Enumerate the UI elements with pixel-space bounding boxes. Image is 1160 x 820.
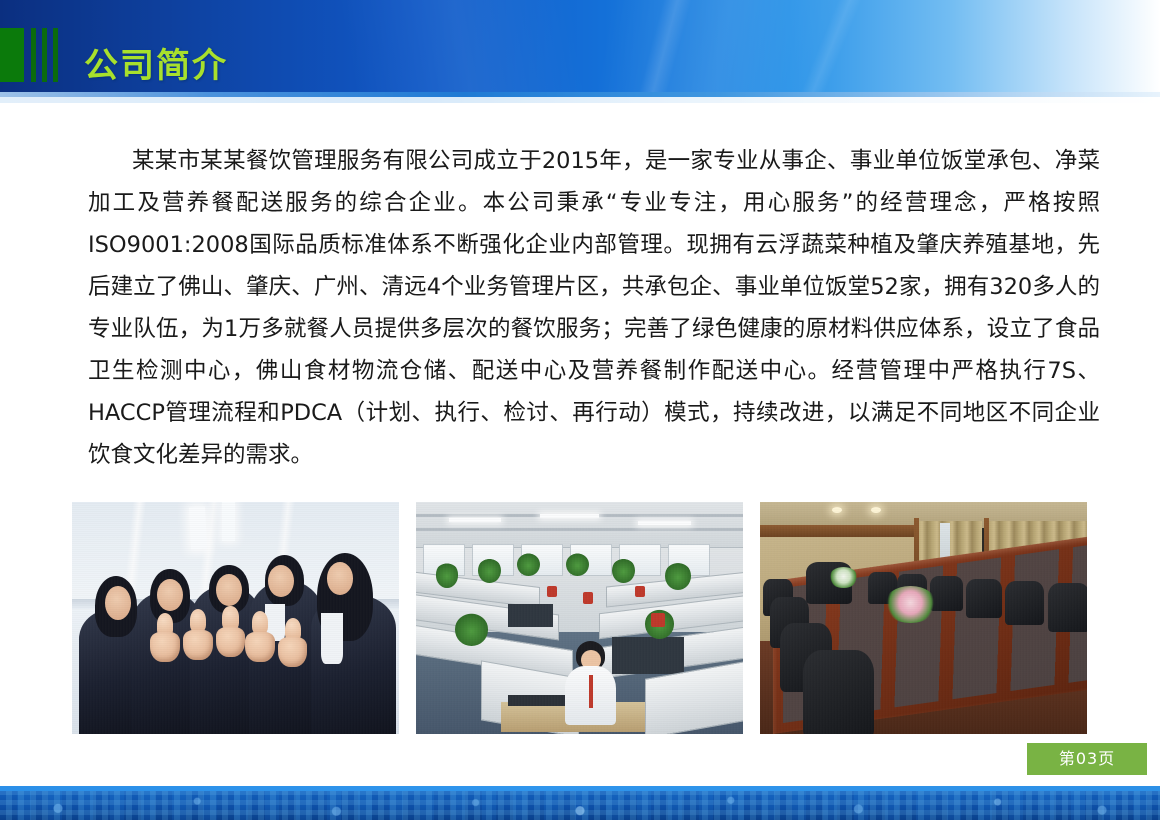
photo1-hand-5 bbox=[278, 637, 307, 667]
photo3-downlight-1 bbox=[832, 507, 842, 513]
photo2-cubicle-shadow-2 bbox=[612, 637, 684, 674]
photo3-chair-near-4 bbox=[803, 650, 875, 734]
photo2-plant-6 bbox=[665, 562, 691, 590]
photo1-face-1 bbox=[105, 586, 131, 621]
photo1-hand-3 bbox=[216, 627, 245, 657]
decor-bar-2 bbox=[42, 28, 47, 82]
photo2-plant-5 bbox=[612, 558, 635, 584]
title-decoration-bars-icon bbox=[0, 28, 58, 82]
photo1-face-5 bbox=[327, 562, 353, 594]
photo2-lamp-2 bbox=[540, 514, 599, 518]
footer-band bbox=[0, 791, 1160, 820]
photo-gallery bbox=[72, 502, 1088, 734]
photo1-shirt-5 bbox=[321, 613, 344, 664]
photo1-hand-1 bbox=[150, 632, 179, 662]
photo2-red-pot-3 bbox=[651, 613, 664, 627]
photo2-seated-employee bbox=[563, 641, 619, 725]
photo3-chair-far-5 bbox=[1005, 581, 1044, 625]
photo1-thumb-3 bbox=[222, 606, 238, 629]
photo3-chair-far-6 bbox=[1048, 583, 1087, 632]
slide-canvas: 公司简介 某某市某某餐饮管理服务有限公司成立于2015年，是一家专业从事企、事业… bbox=[0, 0, 1160, 820]
photo2-red-pot-1 bbox=[547, 586, 557, 598]
photo1-hand-4 bbox=[245, 632, 274, 662]
photo1-hand-2 bbox=[183, 630, 212, 660]
decor-bar-3 bbox=[53, 28, 58, 82]
photo-open-plan-office bbox=[416, 502, 743, 734]
photo2-plant-7 bbox=[455, 613, 488, 645]
photo2-plant-2 bbox=[478, 558, 501, 584]
photo2-duct-2 bbox=[416, 528, 743, 531]
photo2-ceiling bbox=[416, 502, 743, 548]
photo2-lamp-1 bbox=[449, 518, 501, 522]
photo1-thumb-4 bbox=[252, 611, 268, 634]
company-profile-paragraph: 某某市某某餐饮管理服务有限公司成立于2015年，是一家专业从事企、事业单位饭堂承… bbox=[88, 140, 1100, 476]
photo3-flower-centerpiece bbox=[884, 586, 936, 623]
photo3-downlight-2 bbox=[871, 507, 881, 513]
photo3-flower-secondary bbox=[829, 567, 858, 588]
slide-title: 公司简介 bbox=[84, 38, 228, 87]
photo2-plant-1 bbox=[436, 562, 459, 588]
photo2-cubicle-shadow-1 bbox=[508, 604, 554, 627]
decor-bar-1 bbox=[31, 28, 36, 82]
photo1-thumb-2 bbox=[190, 609, 206, 632]
photo3-chair-far-4 bbox=[966, 579, 1002, 618]
photo2-red-pot-4 bbox=[583, 592, 593, 604]
photo1-lamp-a bbox=[189, 506, 208, 549]
photo-conference-room bbox=[760, 502, 1087, 734]
photo2-employee-lanyard bbox=[589, 675, 592, 708]
photo1-face-2 bbox=[157, 579, 183, 611]
photo2-lamp-3 bbox=[638, 521, 690, 525]
header-underline-soft bbox=[0, 97, 1160, 103]
photo2-red-pot-2 bbox=[635, 586, 645, 598]
page-number-badge: 第03页 bbox=[1027, 743, 1147, 775]
footer-light-dots bbox=[0, 791, 1160, 820]
photo1-lamp-b bbox=[222, 502, 235, 541]
photo-business-team-thumbs-up bbox=[72, 502, 399, 734]
decor-block bbox=[0, 28, 24, 82]
